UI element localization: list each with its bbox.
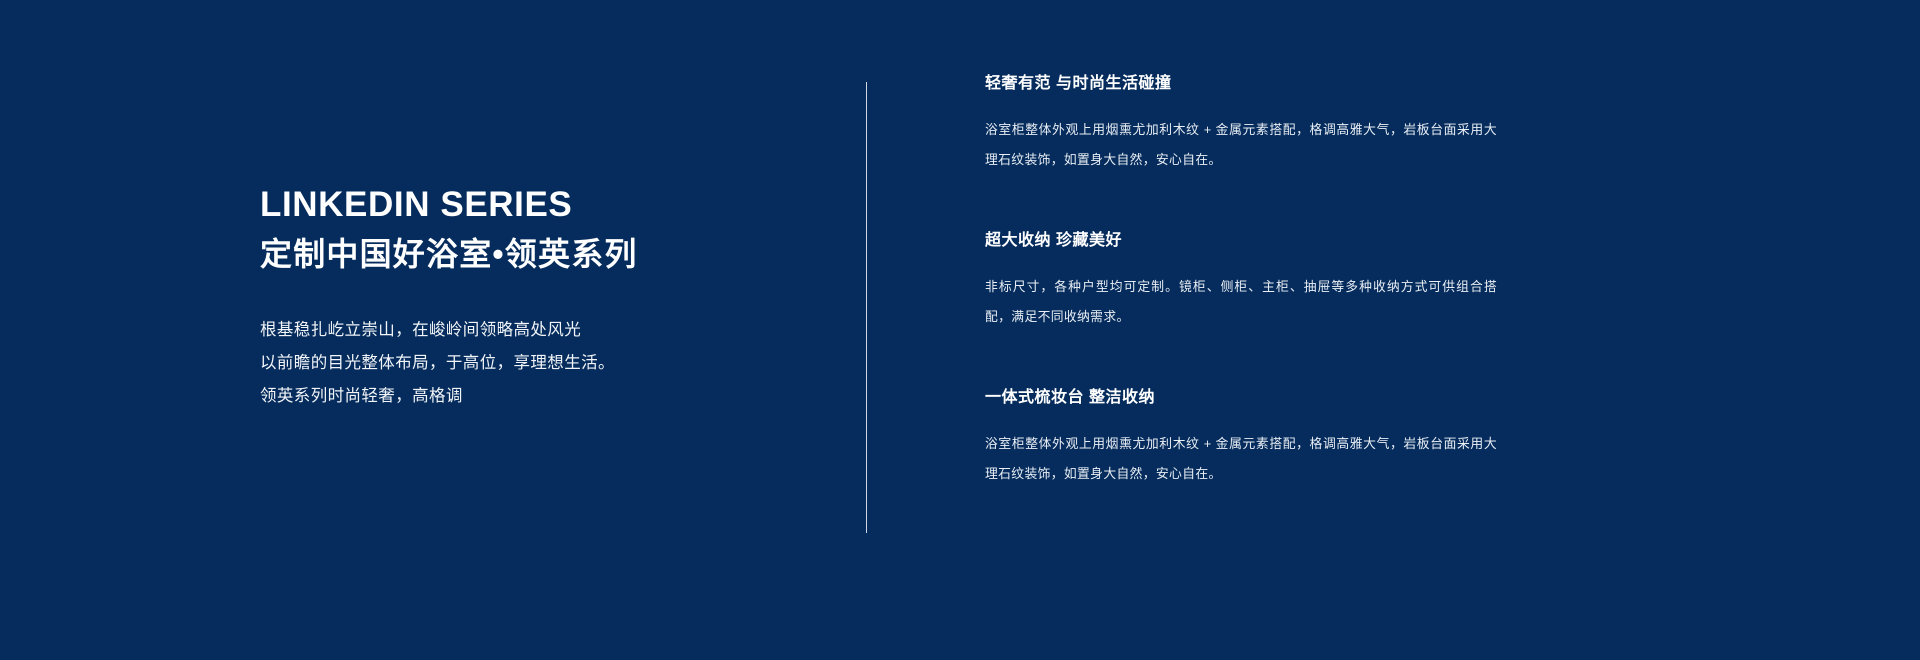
series-title-cn: 定制中国好浴室•领英系列 <box>260 234 820 274</box>
feature-heading: 一体式梳妆台 整洁收纳 <box>985 388 1497 409</box>
series-title-en: LINKEDIN SERIES <box>260 185 820 225</box>
series-intro-panel: LINKEDIN SERIES 定制中国好浴室•领英系列 根基稳扎屹立崇山，在峻… <box>260 185 820 413</box>
series-tagline: 根基稳扎屹立崇山，在峻岭间领略高处风光 以前瞻的目光整体布局，于高位，享理想生活… <box>260 314 820 413</box>
promo-banner: LINKEDIN SERIES 定制中国好浴室•领英系列 根基稳扎屹立崇山，在峻… <box>0 0 1920 660</box>
feature-heading: 超大收纳 珍藏美好 <box>985 231 1497 252</box>
tagline-line-1: 根基稳扎屹立崇山，在峻岭间领略高处风光 <box>260 314 820 347</box>
feature-body: 浴室柜整体外观上用烟熏尤加利木纹 + 金属元素搭配，格调高雅大气，岩板台面采用大… <box>985 429 1497 489</box>
feature-list-panel: 轻奢有范 与时尚生活碰撞 浴室柜整体外观上用烟熏尤加利木纹 + 金属元素搭配，格… <box>985 74 1497 489</box>
tagline-line-2: 以前瞻的目光整体布局，于高位，享理想生活。 <box>260 347 820 380</box>
feature-block: 超大收纳 珍藏美好 非标尺寸，各种户型均可定制。镜柜、侧柜、主柜、抽屉等多种收纳… <box>985 231 1497 332</box>
column-divider <box>866 82 867 533</box>
feature-body: 非标尺寸，各种户型均可定制。镜柜、侧柜、主柜、抽屉等多种收纳方式可供组合搭配，满… <box>985 272 1497 332</box>
feature-heading: 轻奢有范 与时尚生活碰撞 <box>985 74 1497 95</box>
tagline-line-3: 领英系列时尚轻奢，高格调 <box>260 380 820 413</box>
feature-block: 轻奢有范 与时尚生活碰撞 浴室柜整体外观上用烟熏尤加利木纹 + 金属元素搭配，格… <box>985 74 1497 175</box>
feature-block: 一体式梳妆台 整洁收纳 浴室柜整体外观上用烟熏尤加利木纹 + 金属元素搭配，格调… <box>985 388 1497 489</box>
feature-body: 浴室柜整体外观上用烟熏尤加利木纹 + 金属元素搭配，格调高雅大气，岩板台面采用大… <box>985 115 1497 175</box>
